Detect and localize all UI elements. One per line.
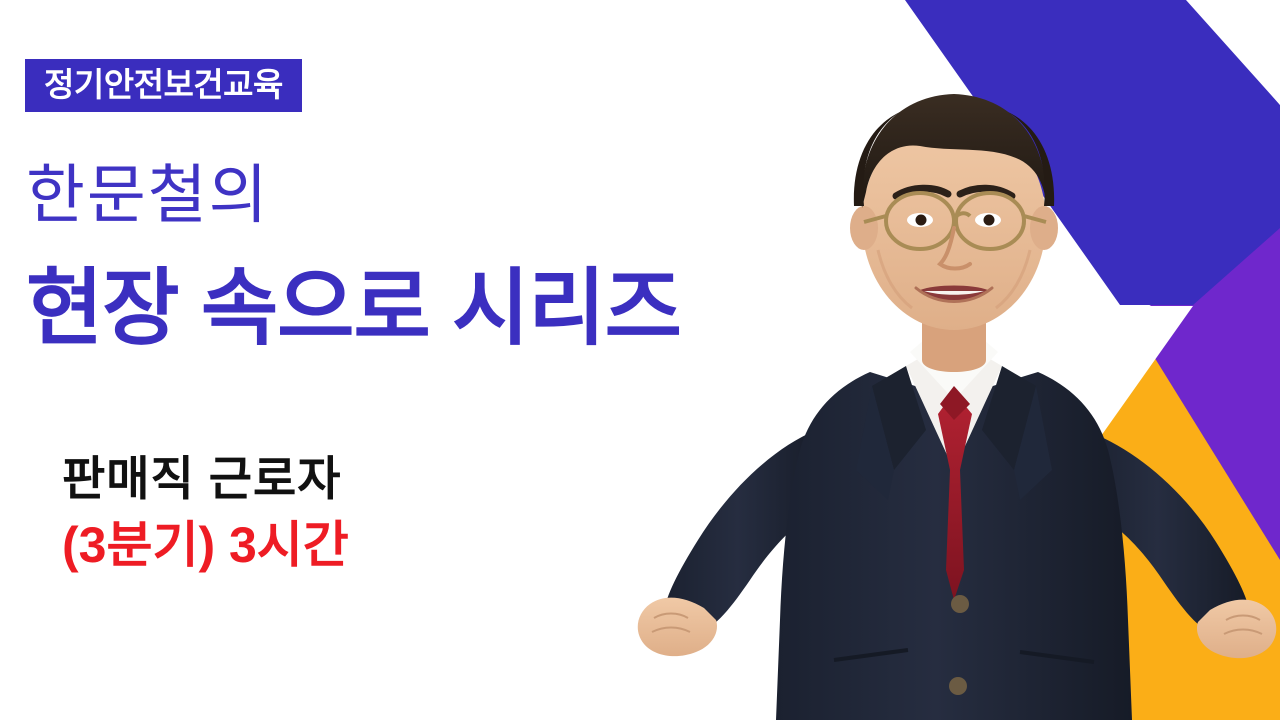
title-line-2: 현장 속으로 시리즈 (26, 266, 681, 350)
subtitle-line-1: 판매직 근로자 (62, 455, 342, 502)
category-badge: 정기안전보건교육 (25, 59, 302, 112)
text-block: 정기안전보건교육 한문철의 현장 속으로 시리즈 판매직 근로자 (3분기) 3… (0, 0, 900, 720)
subtitle-line-2: (3분기) 3시간 (62, 520, 349, 570)
title-line-1: 한문철의 (26, 163, 270, 227)
thumbnail-canvas: 정기안전보건교육 한문철의 현장 속으로 시리즈 판매직 근로자 (3분기) 3… (0, 0, 1280, 720)
